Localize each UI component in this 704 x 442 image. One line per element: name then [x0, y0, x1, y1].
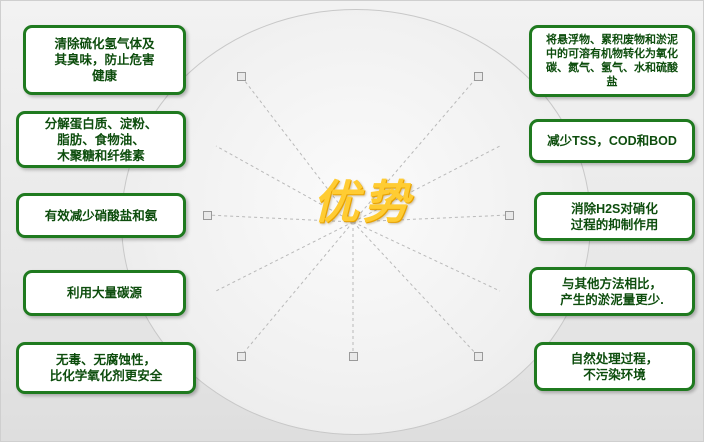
hub-marker	[237, 72, 246, 81]
node-label: 消除H2S对硝化 过程的抑制作用	[544, 201, 685, 233]
node-right-3[interactable]: 消除H2S对硝化 过程的抑制作用	[534, 192, 695, 241]
hub-marker	[474, 72, 483, 81]
node-label: 与其他方法相比， 产生的淤泥量更少.	[539, 276, 685, 308]
node-left-5[interactable]: 无毒、无腐蚀性， 比化学氧化剂更安全	[16, 342, 196, 394]
hub-marker	[237, 352, 246, 361]
node-label: 有效减少硝酸盐和氨	[26, 208, 176, 224]
node-right-2[interactable]: 减少TSS，COD和BOD	[529, 119, 695, 163]
node-right-4[interactable]: 与其他方法相比， 产生的淤泥量更少.	[529, 267, 695, 316]
hub-marker	[474, 352, 483, 361]
node-right-5[interactable]: 自然处理过程， 不污染环境	[534, 342, 695, 391]
node-left-2[interactable]: 分解蛋白质、淀粉、 脂肪、食物油、 木聚糖和纤维素	[16, 111, 186, 168]
node-left-4[interactable]: 利用大量碳源	[23, 270, 186, 316]
diagram-canvas: 优势 清除硫化氢气体及 其臭味，防止危害 健康 分解蛋白质、淀粉、 脂肪、食物油…	[0, 0, 704, 442]
hub-marker	[349, 352, 358, 361]
node-label: 将悬浮物、累积废物和淤泥 中的可溶有机物转化为氧化 碳、氮气、氢气、水和硫酸 盐	[539, 33, 685, 89]
node-label: 清除硫化氢气体及 其臭味，防止危害 健康	[33, 36, 176, 84]
center-title: 优势	[273, 179, 453, 227]
hub-marker	[203, 211, 212, 220]
hub-marker	[505, 211, 514, 220]
node-label: 减少TSS，COD和BOD	[539, 133, 685, 149]
node-left-3[interactable]: 有效减少硝酸盐和氨	[16, 193, 186, 238]
node-right-1[interactable]: 将悬浮物、累积废物和淤泥 中的可溶有机物转化为氧化 碳、氮气、氢气、水和硫酸 盐	[529, 25, 695, 97]
node-left-1[interactable]: 清除硫化氢气体及 其臭味，防止危害 健康	[23, 25, 186, 95]
node-label: 无毒、无腐蚀性， 比化学氧化剂更安全	[26, 352, 186, 384]
node-label: 利用大量碳源	[33, 285, 176, 301]
node-label: 分解蛋白质、淀粉、 脂肪、食物油、 木聚糖和纤维素	[26, 116, 176, 164]
node-label: 自然处理过程， 不污染环境	[544, 351, 685, 383]
